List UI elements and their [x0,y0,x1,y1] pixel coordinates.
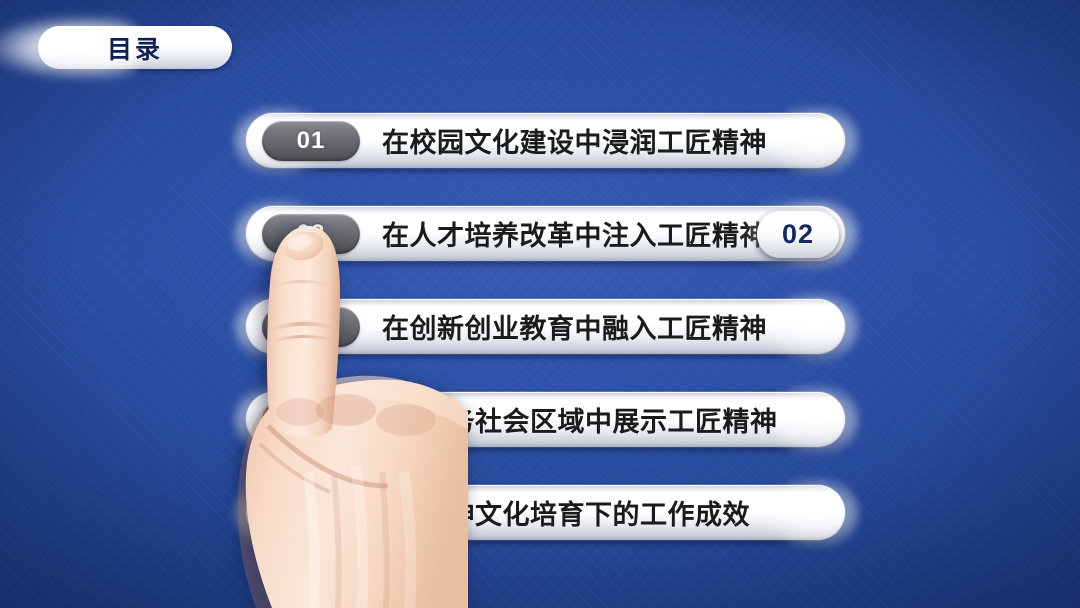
list-item[interactable]: 01 在校园文化建设中浸润工匠精神 [246,113,845,168]
row-title: 精神文化培育下的工作成效 [420,485,750,540]
table-of-contents-list: 01 在校园文化建设中浸润工匠精神 02 在人才培养改革中注入工匠精神 03 在… [0,0,1080,608]
pointing-hand-icon [238,214,468,608]
presentation-slide: 目录 01 在校园文化建设中浸润工匠精神 02 在人才培养改革中注入工匠精神 0… [0,0,1080,608]
row-number-badge: 01 [262,121,360,161]
status-badge-label: 02 [782,219,814,250]
status-badge: 02 [757,211,839,258]
row-number-label: 01 [297,127,326,155]
row-title: 服务社会区域中展示工匠精神 [420,392,778,447]
row-title: 在校园文化建设中浸润工匠精神 [382,113,767,168]
